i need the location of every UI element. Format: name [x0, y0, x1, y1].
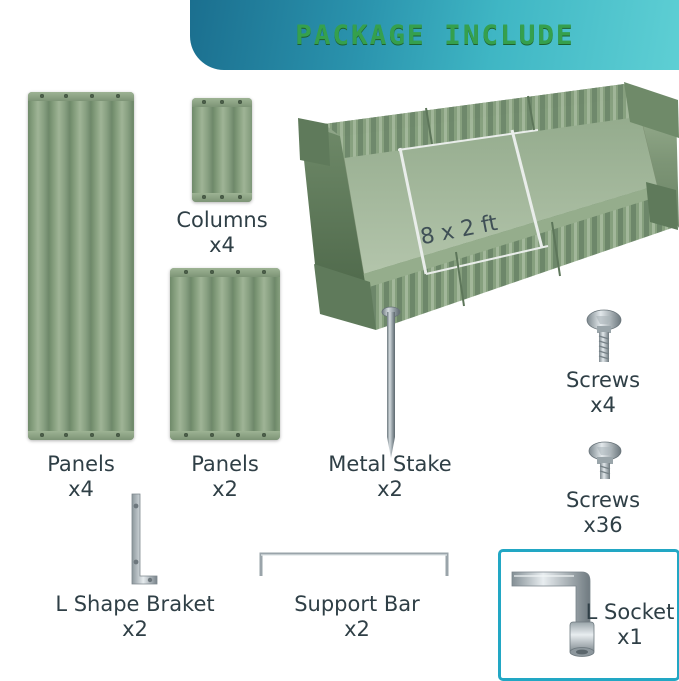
qty-support-bar: x2 — [262, 617, 452, 642]
screw-short-svg — [582, 440, 628, 482]
qty-l-bracket: x2 — [10, 617, 260, 642]
metal-stake-illustration — [378, 305, 394, 455]
caption-screws-long: Screws x4 — [528, 368, 678, 418]
qty-l-socket: x1 — [582, 625, 678, 650]
label-l-socket: L Socket — [586, 600, 675, 624]
qty-panels-small: x2 — [155, 477, 295, 502]
qty-metal-stake: x2 — [300, 477, 480, 502]
metal-stake-svg — [378, 305, 404, 460]
label-screws-long: Screws — [566, 368, 640, 392]
label-screws-short: Screws — [566, 488, 640, 512]
page-title: PACKAGE INCLUDE — [295, 20, 574, 51]
label-l-bracket: L Shape Braket — [55, 592, 214, 616]
panel-small-bottom-holes — [170, 431, 280, 440]
support-bar-svg — [258, 548, 450, 580]
label-panels-small: Panels — [191, 452, 259, 476]
column-bottom-holes — [192, 193, 252, 202]
header-banner: PACKAGE INCLUDE — [190, 0, 679, 70]
package-include-diagram: PACKAGE INCLUDE Panels x4 Columns x4 — [0, 0, 679, 679]
panel-bottom-holes — [28, 431, 134, 440]
caption-columns: Columns x4 — [152, 208, 292, 258]
screw-short-illustration — [582, 440, 628, 482]
panel-large-illustration — [28, 92, 134, 440]
caption-l-socket: L Socket x1 — [582, 600, 678, 650]
qty-screws-short: x36 — [528, 513, 678, 538]
column-illustration — [192, 98, 252, 202]
qty-columns: x4 — [152, 233, 292, 258]
panel-small-illustration — [170, 268, 280, 440]
caption-screws-short: Screws x36 — [528, 488, 678, 538]
column-top-holes — [192, 98, 252, 107]
panel-small-top-holes — [170, 268, 280, 277]
label-support-bar: Support Bar — [294, 592, 420, 616]
caption-metal-stake: Metal Stake x2 — [300, 452, 480, 502]
caption-support-bar: Support Bar x2 — [262, 592, 452, 642]
screw-long-svg — [578, 308, 630, 366]
label-columns: Columns — [176, 208, 267, 232]
qty-screws-long: x4 — [528, 393, 678, 418]
l-bracket-illustration — [110, 492, 160, 588]
l-bracket-svg — [110, 492, 160, 588]
label-panels-large: Panels — [47, 452, 115, 476]
label-metal-stake: Metal Stake — [328, 452, 451, 476]
support-bar-illustration — [258, 548, 450, 580]
caption-panels-small: Panels x2 — [155, 452, 295, 502]
panel-top-holes — [28, 92, 134, 101]
caption-l-bracket: L Shape Braket x2 — [10, 592, 260, 642]
screw-long-illustration — [578, 308, 630, 366]
